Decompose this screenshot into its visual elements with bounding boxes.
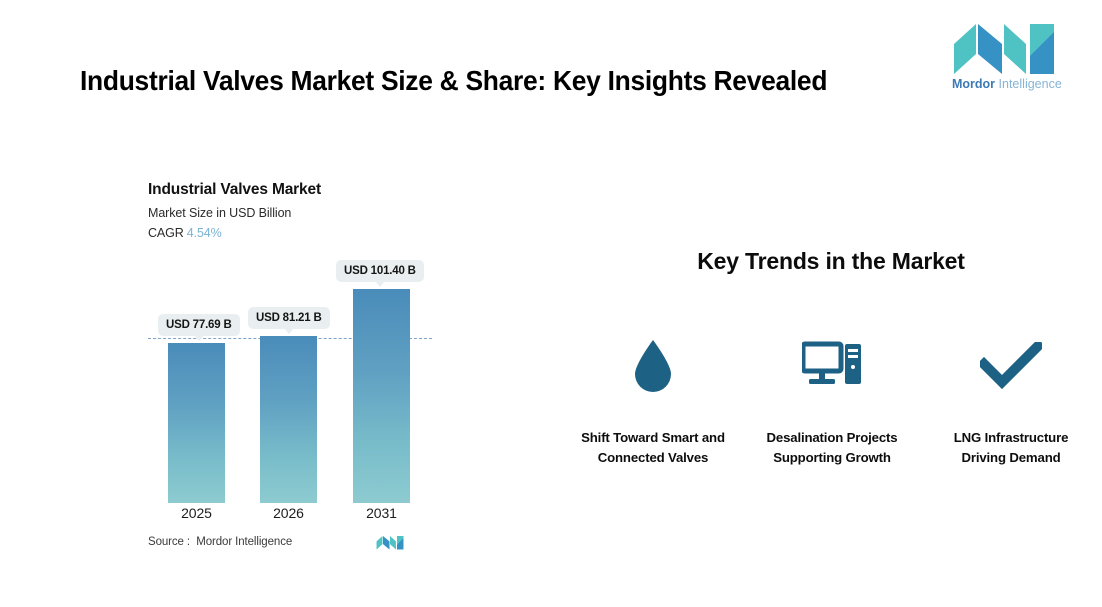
trend-label-lng: LNG Infrastructure Driving Demand <box>936 428 1086 468</box>
chart-title: Industrial Valves Market <box>148 180 478 201</box>
trend-label-desalination: Desalination Projects Supporting Growth <box>757 428 907 468</box>
bar-value-label-2026: USD 81.21 B <box>248 307 330 329</box>
bar-value-label-2025: USD 77.69 B <box>158 314 240 336</box>
desktop-computer-icon <box>802 338 862 394</box>
trend-label-smart-valves: Shift Toward Smart and Connected Valves <box>578 428 728 468</box>
source-mordor-logo-icon <box>376 535 404 550</box>
trend-item-desalination: Desalination Projects Supporting Growth <box>757 338 907 468</box>
chart-heading: Industrial Valves Market Market Size in … <box>148 180 478 242</box>
source-label: Source : <box>148 536 190 548</box>
bar-2026 <box>260 336 317 503</box>
chart-source-row: Source : Mordor Intelligence <box>148 536 438 554</box>
trend-item-smart-valves: Shift Toward Smart and Connected Valves <box>578 338 728 468</box>
cagr-label: CAGR <box>148 226 184 240</box>
chart-panel: Industrial Valves Market Market Size in … <box>0 0 560 607</box>
chart-x-axis-labels: 2025 2026 2031 <box>148 505 432 529</box>
trends-heading: Key Trends in the Market <box>560 248 1102 276</box>
trend-item-lng: LNG Infrastructure Driving Demand <box>936 338 1086 468</box>
bar-2031 <box>353 289 410 503</box>
chart-source-text: Source : Mordor Intelligence <box>148 536 292 548</box>
source-value: Mordor Intelligence <box>196 536 292 548</box>
cagr-value: 4.54% <box>187 226 222 240</box>
x-axis-label-2025: 2025 <box>168 505 225 521</box>
x-axis-label-2031: 2031 <box>353 505 410 521</box>
trends-grid: Shift Toward Smart and Connected Valves … <box>578 338 1086 468</box>
chart-subtitle: Market Size in USD Billion <box>148 205 478 222</box>
water-droplet-icon <box>631 338 675 394</box>
chart-plot-area: USD 77.69 B USD 81.21 B USD 101.40 B <box>148 258 432 503</box>
trends-panel: Key Trends in the Market Shift Toward Sm… <box>560 0 1102 607</box>
infographic-canvas: Industrial Valves Market Size & Share: K… <box>0 0 1102 607</box>
x-axis-label-2026: 2026 <box>260 505 317 521</box>
chart-cagr: CAGR4.54% <box>148 225 478 242</box>
bar-2025 <box>168 343 225 503</box>
bar-value-label-2031: USD 101.40 B <box>336 260 424 282</box>
checkmark-icon <box>980 338 1042 394</box>
